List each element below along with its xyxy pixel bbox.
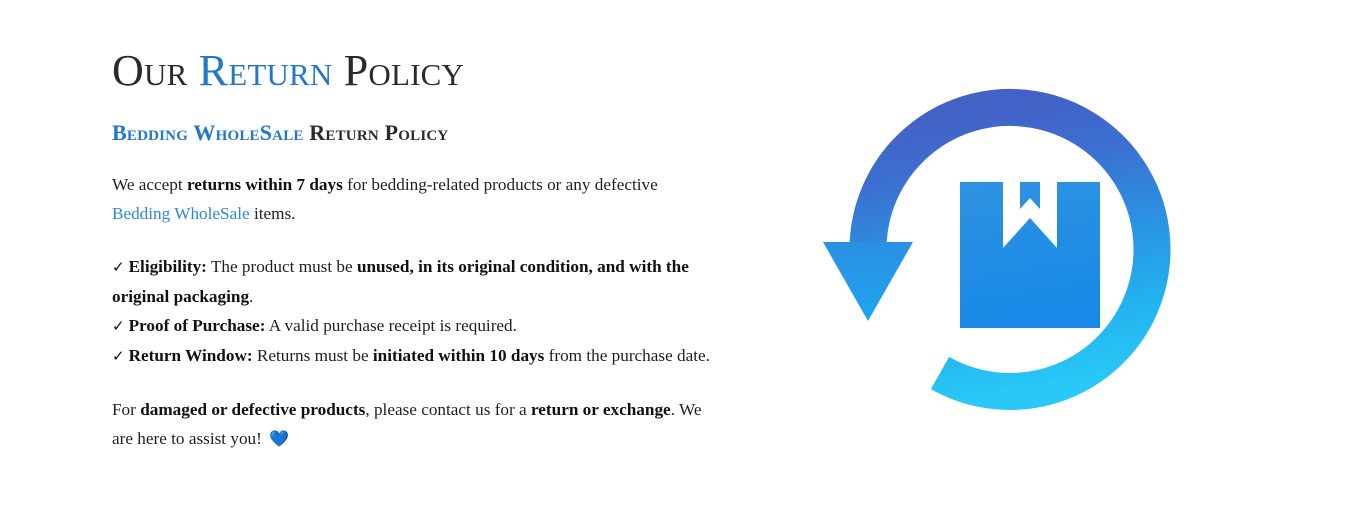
closing-text-1: For	[112, 400, 140, 419]
closing-bold-2: return or exchange	[531, 400, 671, 419]
checklist-item-label: Return Window:	[129, 346, 253, 365]
section-subtitle: Bedding WholeSale Return Policy	[112, 121, 722, 145]
page-title-accent: Return	[199, 46, 333, 95]
check-icon: ✓	[112, 258, 125, 276]
checklist-item-proof-of-purchase: ✓Proof of Purchase: A valid purchase rec…	[112, 311, 712, 341]
return-cycle-icon	[812, 78, 1208, 438]
page-title-part1: Our	[112, 46, 199, 95]
return-cycle-graphic	[812, 78, 1208, 438]
section-subtitle-brand: Bedding WholeSale	[112, 120, 304, 145]
intro-text-1: We accept	[112, 175, 187, 194]
intro-bold-1: returns within 7 days	[187, 175, 343, 194]
arrow-head-icon	[823, 242, 913, 321]
closing-bold-1: damaged or defective products	[140, 400, 365, 419]
checklist-item-text-1: The product must be	[207, 257, 357, 276]
blue-heart-icon: 💙	[269, 429, 289, 448]
return-policy-page: Our Return Policy Bedding WholeSale Retu…	[0, 0, 1345, 519]
checklist-item-eligibility: ✓Eligibility: The product must be unused…	[112, 252, 712, 311]
check-icon: ✓	[112, 317, 125, 335]
intro-text-2: for bedding-related products or any defe…	[343, 175, 658, 194]
closing-text-2: , please contact us for a	[365, 400, 531, 419]
checklist-item-label: Proof of Purchase:	[129, 316, 266, 335]
checklist-item-text-2: .	[249, 287, 253, 306]
closing-paragraph: For damaged or defective products, pleas…	[112, 395, 712, 453]
checklist-item-text-2: from the purchase date.	[544, 346, 710, 365]
checklist-item-bold-1: initiated within 10 days	[373, 346, 544, 365]
checklist-item-label: Eligibility:	[129, 257, 207, 276]
text-column: Our Return Policy Bedding WholeSale Retu…	[112, 48, 722, 453]
checklist-item-return-window: ✓Return Window: Returns must be initiate…	[112, 341, 712, 371]
checklist-item-text-1: A valid purchase receipt is required.	[265, 316, 517, 335]
checklist-item-text-1: Returns must be	[253, 346, 373, 365]
policy-checklist: ✓Eligibility: The product must be unused…	[112, 252, 712, 371]
bedding-wholesale-link[interactable]: Bedding WholeSale	[112, 204, 250, 223]
intro-text-3: items.	[250, 204, 296, 223]
intro-paragraph: We accept returns within 7 days for bedd…	[112, 170, 712, 228]
page-title-part2: Policy	[333, 46, 465, 95]
page-title: Our Return Policy	[112, 48, 722, 94]
check-icon: ✓	[112, 347, 125, 365]
section-subtitle-rest: Return Policy	[304, 120, 449, 145]
